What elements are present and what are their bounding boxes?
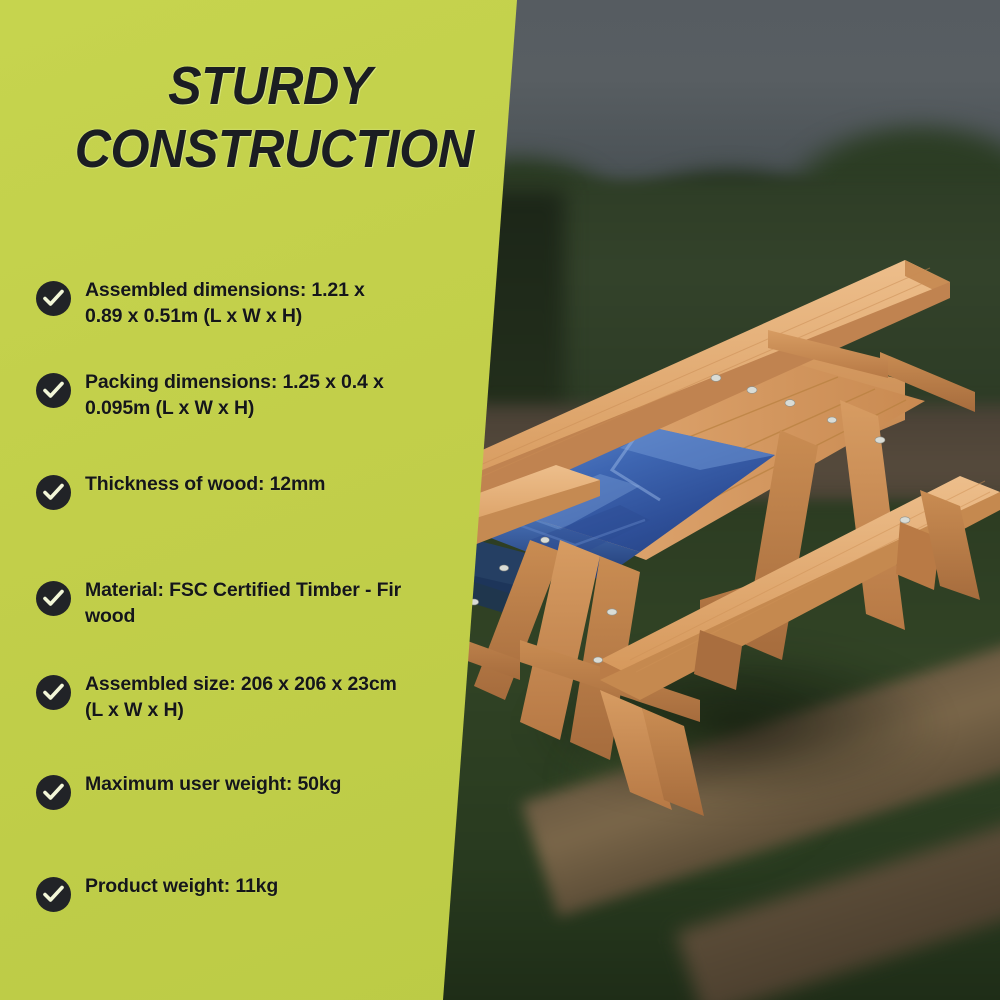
list-item: Assembled dimensions: 1.21 x 0.89 x 0.51… [0,278,430,334]
feature-label: Assembled size: 206 x 206 x 23cm (L x W … [85,672,403,723]
feature-label: Assembled dimensions: 1.21 x 0.89 x 0.51… [85,278,403,329]
check-icon [36,475,71,510]
feature-label: Packing dimensions: 1.25 x 0.4 x 0.095m … [85,370,403,421]
list-item: Product weight: 11kg [0,874,430,930]
check-icon [36,281,71,316]
feature-label: Thickness of wood: 12mm [85,472,325,498]
title-line-2: CONSTRUCTION [75,118,466,181]
check-icon [36,675,71,710]
feature-list: Assembled dimensions: 1.21 x 0.89 x 0.51… [0,278,430,930]
feature-label: Maximum user weight: 50kg [85,772,341,798]
check-icon [36,775,71,810]
list-item: Assembled size: 206 x 206 x 23cm (L x W … [0,672,430,728]
check-icon [36,877,71,912]
list-item: Maximum user weight: 50kg [0,772,430,828]
list-item: Thickness of wood: 12mm [0,472,430,528]
check-icon [36,581,71,616]
list-item: Material: FSC Certified Timber - Fir woo… [0,578,430,634]
list-item: Packing dimensions: 1.25 x 0.4 x 0.095m … [0,370,430,426]
feature-label: Material: FSC Certified Timber - Fir woo… [85,578,403,629]
page-title: STURDY CONSTRUCTION [75,55,466,181]
feature-label: Product weight: 11kg [85,874,278,900]
check-icon [36,373,71,408]
infographic-canvas: STURDY CONSTRUCTION Assembled dimensions… [0,0,1000,1000]
title-line-1: STURDY [75,55,466,118]
